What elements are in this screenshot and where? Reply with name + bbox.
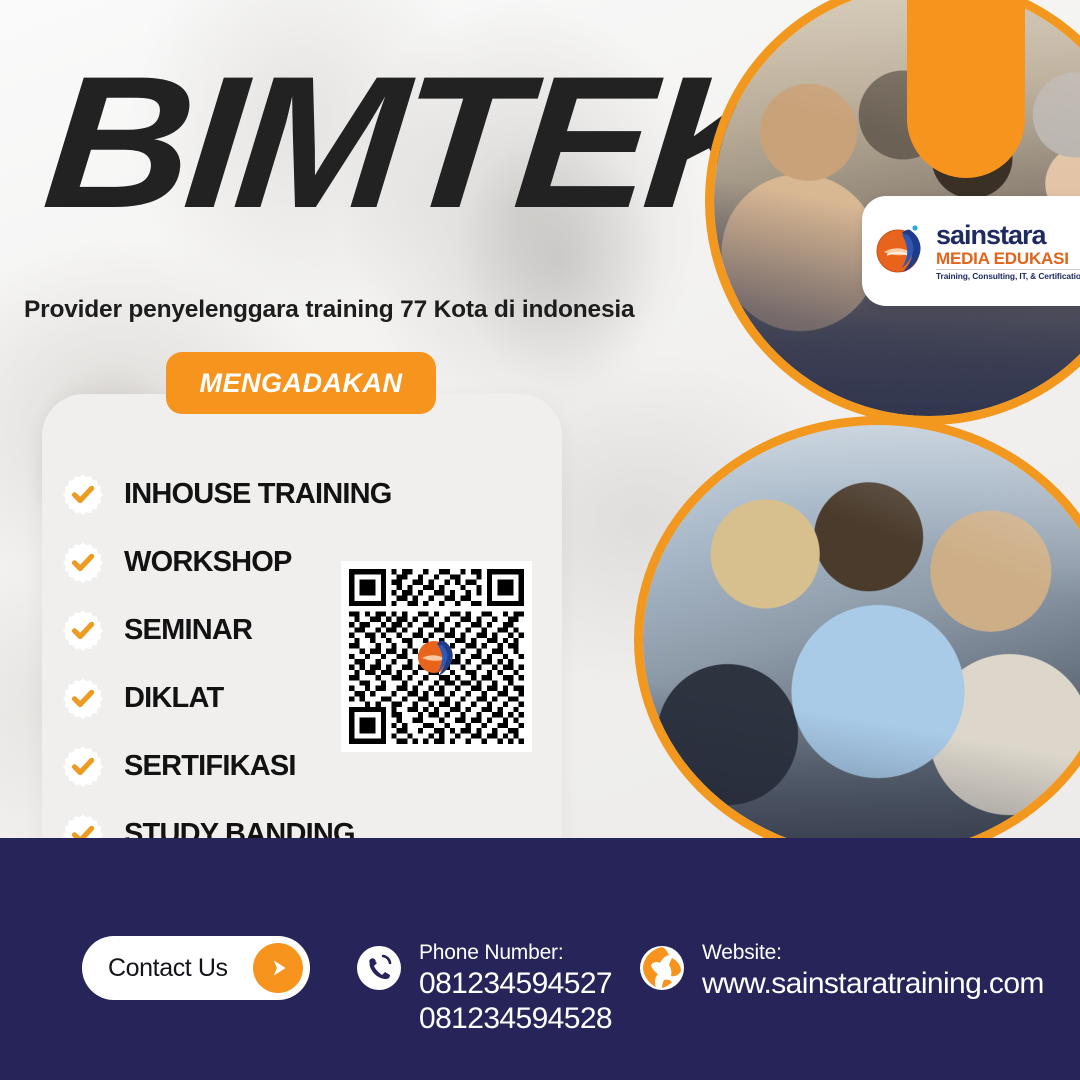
phone-number-1[interactable]: 081234594527 bbox=[419, 966, 612, 1001]
check-badge-icon bbox=[62, 473, 104, 515]
website-info: Website: www.sainstaratraining.com bbox=[638, 940, 1044, 1001]
poster-root: BIMTEK Provider penyelenggara training 7… bbox=[0, 0, 1080, 1080]
brand-subtitle: MEDIA EDUKASI bbox=[936, 249, 1080, 268]
check-badge-icon bbox=[62, 609, 104, 651]
phone-icon bbox=[355, 944, 403, 992]
brand-logo-text: sainstara MEDIA EDUKASI Training, Consul… bbox=[936, 221, 1080, 281]
check-badge-icon bbox=[62, 745, 104, 787]
phone-number-2[interactable]: 081234594528 bbox=[419, 1001, 612, 1036]
phone-text: Phone Number: 081234594527 081234594528 bbox=[419, 940, 612, 1036]
brand-name: sainstara bbox=[936, 221, 1080, 249]
hero-subtitle: Provider penyelenggara training 77 Kota … bbox=[24, 296, 634, 324]
mengadakan-badge: MENGADAKAN bbox=[166, 352, 436, 414]
phone-info: Phone Number: 081234594527 081234594528 bbox=[355, 940, 612, 1036]
website-url[interactable]: www.sainstaratraining.com bbox=[702, 966, 1044, 1001]
mengadakan-badge-label: MENGADAKAN bbox=[200, 368, 403, 399]
list-item: INHOUSE TRAINING bbox=[62, 460, 532, 528]
orange-tab-shape bbox=[907, 0, 1025, 178]
qr-code-icon[interactable] bbox=[341, 561, 532, 752]
list-item-label: SEMINAR bbox=[124, 614, 252, 647]
globe-icon bbox=[638, 944, 686, 992]
play-arrow-icon bbox=[253, 943, 303, 993]
list-item-label: INHOUSE TRAINING bbox=[124, 478, 392, 511]
brand-logo: sainstara MEDIA EDUKASI Training, Consul… bbox=[862, 196, 1080, 306]
brand-tagline: Training, Consulting, IT, & Certificatio… bbox=[936, 269, 1080, 281]
list-item-label: SERTIFIKASI bbox=[124, 750, 296, 783]
contact-us-label: Contact Us bbox=[108, 954, 228, 983]
list-item-label: WORKSHOP bbox=[124, 546, 292, 579]
sainstara-logo-mark-icon bbox=[874, 224, 928, 278]
check-badge-icon bbox=[62, 541, 104, 583]
website-label: Website: bbox=[702, 940, 1044, 966]
page-title: BIMTEK bbox=[37, 46, 812, 246]
qr-center-logo-icon bbox=[415, 635, 459, 679]
website-text: Website: www.sainstaratraining.com bbox=[702, 940, 1044, 1001]
list-item-label: DIKLAT bbox=[124, 682, 223, 715]
contact-us-button[interactable]: Contact Us bbox=[82, 936, 310, 1000]
check-badge-icon bbox=[62, 677, 104, 719]
phone-label: Phone Number: bbox=[419, 940, 612, 966]
